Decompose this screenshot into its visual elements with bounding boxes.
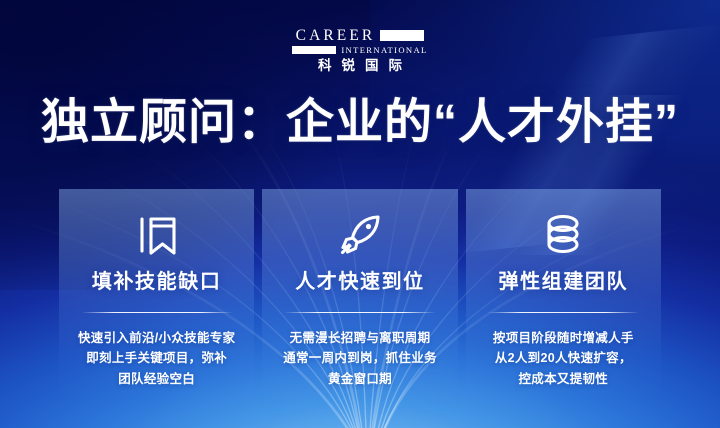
feature-card-skill-gap: 填补技能缺口 快速引入前沿/小众技能专家 即刻上手关键项目，弥补 团队经验空白 (59, 189, 254, 399)
page-title: 独立顾问：企业的“人才外挂” (0, 96, 720, 151)
logo-row-bottom: INTERNATIONAL (292, 46, 427, 55)
feature-card-divider (81, 312, 233, 313)
logo-block-bottom-icon (292, 46, 336, 54)
feature-card-flexible-team: 弹性组建团队 按项目阶段随时增减人手 从2人到20人快速扩容， 控成本又提韧性 (466, 189, 661, 399)
logo-text-career: CAREER (296, 28, 376, 44)
feature-card-body: 快速引入前沿/小众技能专家 即刻上手关键项目，弥补 团队经验空白 (78, 328, 235, 389)
spring-coil-icon (535, 207, 591, 263)
bookmark-icon (129, 207, 185, 263)
career-international-logo: CAREER INTERNATIONAL 科锐国际 (0, 28, 720, 73)
feature-card-title: 填补技能缺口 (92, 272, 222, 292)
feature-card-title: 人才快速到位 (295, 272, 425, 292)
rocket-icon (332, 207, 388, 263)
feature-card-body: 无需漫长招聘与离职周期 通常一周内到岗，抓住业务 黄金窗口期 (283, 328, 437, 389)
poster-canvas: CAREER INTERNATIONAL 科锐国际 独立顾问：企业的“人才外挂”… (0, 0, 720, 428)
feature-card-title: 弹性组建团队 (499, 272, 629, 292)
feature-card-list: 填补技能缺口 快速引入前沿/小众技能专家 即刻上手关键项目，弥补 团队经验空白 … (59, 189, 661, 399)
feature-card-fast-placement: 人才快速到位 无需漫长招聘与离职周期 通常一周内到岗，抓住业务 黄金窗口期 (262, 189, 457, 399)
logo-block-top-icon (380, 30, 424, 41)
logo-text-chinese: 科锐国际 (308, 59, 412, 73)
logo-text-international: INTERNATIONAL (341, 46, 427, 55)
logo-row-top: CAREER (296, 28, 425, 44)
feature-card-body: 按项目阶段随时增减人手 从2人到20人快速扩容， 控成本又提韧性 (493, 328, 634, 389)
feature-card-divider (487, 312, 639, 313)
feature-card-divider (284, 312, 436, 313)
